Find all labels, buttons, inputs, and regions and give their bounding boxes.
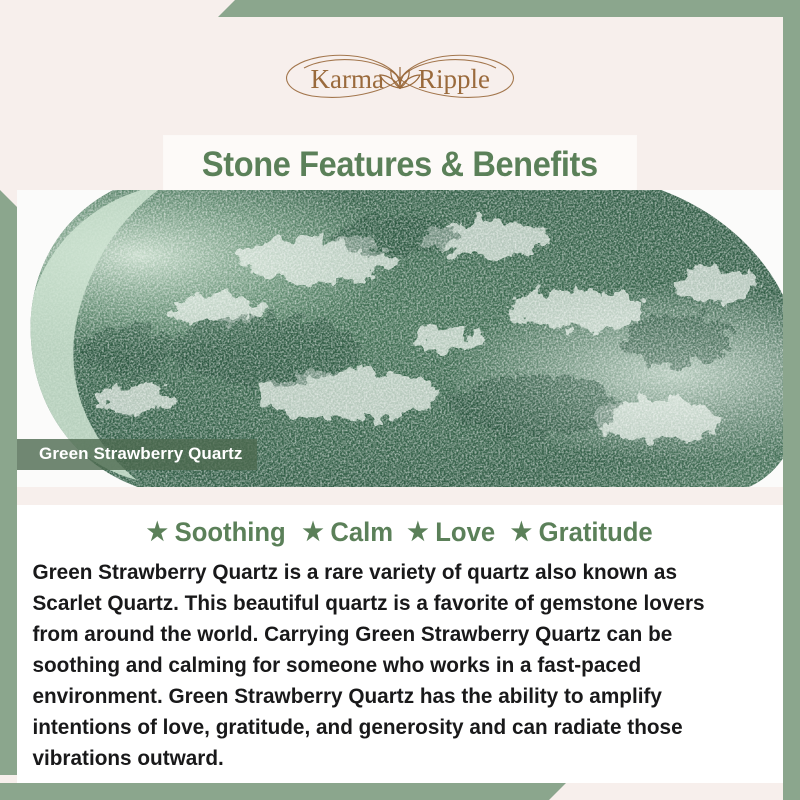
title-plate: Stone Features & Benefits bbox=[164, 136, 636, 193]
feature-item-calm: ★ Calm bbox=[302, 517, 393, 548]
feature-item-gratitude: ★ Gratitude bbox=[511, 517, 653, 548]
feature-label-gratitude: Gratitude bbox=[539, 517, 653, 548]
star-icon: ★ bbox=[147, 520, 168, 545]
star-icon: ★ bbox=[511, 520, 532, 545]
description-paragraph: Green Strawberry Quartz is a rare variet… bbox=[17, 557, 756, 774]
left-accent-band bbox=[0, 190, 17, 775]
brand-logo: Karma Ripple bbox=[0, 44, 800, 114]
karma-ripple-logo-mark: Karma Ripple bbox=[250, 44, 550, 114]
right-accent-band bbox=[783, 0, 800, 800]
logo-word-karma: Karma bbox=[311, 64, 384, 94]
logo-word-ripple: Ripple bbox=[418, 64, 490, 94]
feature-label-love: Love bbox=[435, 517, 495, 548]
feature-item-soothing: ★ Soothing bbox=[147, 517, 286, 548]
bottom-accent-band bbox=[0, 783, 566, 800]
page-title: Stone Features & Benefits bbox=[202, 145, 598, 185]
top-accent-band bbox=[218, 0, 800, 17]
stone-photo: Green Strawberry Quartz bbox=[17, 190, 783, 487]
content-card: ★ Soothing ★ Calm ★ Love ★ Gratitude Gre… bbox=[17, 505, 783, 783]
photo-caption: Green Strawberry Quartz bbox=[17, 439, 257, 470]
feature-label-calm: Calm bbox=[330, 517, 393, 548]
feature-item-love: ★ Love bbox=[407, 517, 495, 548]
star-icon: ★ bbox=[407, 520, 428, 545]
infographic-page: Karma Ripple Stone Features & Benefits bbox=[0, 0, 800, 800]
star-icon: ★ bbox=[302, 520, 323, 545]
feature-list: ★ Soothing ★ Calm ★ Love ★ Gratitude bbox=[17, 505, 783, 548]
feature-label-soothing: Soothing bbox=[175, 517, 286, 548]
